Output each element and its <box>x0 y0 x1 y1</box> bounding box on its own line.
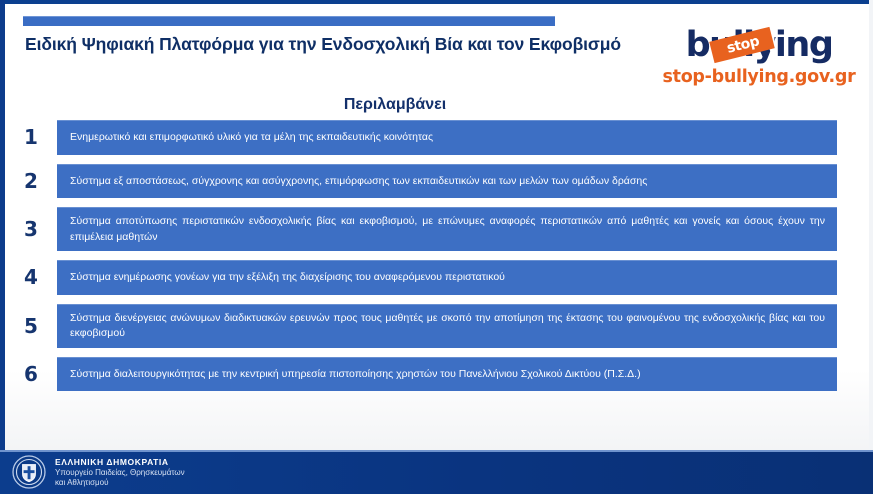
list-item: 4 Σύστημα ενημέρωσης γονέων για την εξέλ… <box>5 260 869 295</box>
list-item: 2 Σύστημα εξ αποστάσεως, σύγχρονης και α… <box>5 164 869 199</box>
list-item-number: 6 <box>5 364 57 384</box>
title-accent-bar <box>23 16 555 26</box>
list-item-number: 4 <box>5 267 57 287</box>
footer-top-divider <box>0 450 873 452</box>
presentation-slide: Ειδική Ψηφιακή Πλατφόρμα για την Ενδοσχο… <box>0 0 873 494</box>
footer-text-block: ΕΛΛΗΝΙΚΗ ΔΗΜΟΚΡΑΤΙΑ Υπουργείο Παιδείας, … <box>55 457 185 488</box>
page-title: Ειδική Ψηφιακή Πλατφόρμα για την Ενδοσχο… <box>25 34 665 55</box>
slide-right-border <box>869 0 873 450</box>
list-item: 1 Ενημερωτικό και επιμορφωτικό υλικό για… <box>5 120 869 155</box>
list-item: 3 Σύστημα αποτύπωσης περιστατικών ενδοσχ… <box>5 207 869 251</box>
footer-ministry-line-2: και Αθλητισμού <box>55 478 185 488</box>
logo-website-url: stop-bullying.gov.gr <box>653 67 865 87</box>
list-item-number: 2 <box>5 171 57 191</box>
list-item-text: Σύστημα διενέργειας ανώνυμων διαδικτυακώ… <box>57 304 837 348</box>
feature-list: 1 Ενημερωτικό και επιμορφωτικό υλικό για… <box>5 120 869 400</box>
footer-ministry-line-1: Υπουργείο Παιδείας, Θρησκευμάτων <box>55 468 185 478</box>
footer-organization: ΕΛΛΗΝΙΚΗ ΔΗΜΟΚΡΑΤΙΑ <box>55 457 185 468</box>
list-item-text: Ενημερωτικό και επιμορφωτικό υλικό για τ… <box>57 120 837 155</box>
greek-coat-of-arms-icon <box>12 455 46 489</box>
list-item-text: Σύστημα εξ αποστάσεως, σύγχρονης και ασύ… <box>57 164 837 199</box>
list-item-number: 5 <box>5 316 57 336</box>
list-item: 5 Σύστημα διενέργειας ανώνυμων διαδικτυα… <box>5 304 869 348</box>
list-item-text: Σύστημα διαλειτουργικότητας με την κεντρ… <box>57 357 837 392</box>
list-item-number: 1 <box>5 127 57 147</box>
section-heading: Περιλαμβάνει <box>255 96 535 114</box>
logo-mark: bullying stop <box>653 26 865 64</box>
list-item-number: 3 <box>5 219 57 239</box>
list-item-text: Σύστημα αποτύπωσης περιστατικών ενδοσχολ… <box>57 207 837 251</box>
list-item-text: Σύστημα ενημέρωσης γονέων για την εξέλιξ… <box>57 260 837 295</box>
slide-footer: ΕΛΛΗΝΙΚΗ ΔΗΜΟΚΡΑΤΙΑ Υπουργείο Παιδείας, … <box>0 450 873 494</box>
list-item: 6 Σύστημα διαλειτουργικότητας με την κεν… <box>5 357 869 392</box>
slide-canvas: Ειδική Ψηφιακή Πλατφόρμα για την Ενδοσχο… <box>5 4 869 450</box>
stop-bullying-logo: bullying stop stop-bullying.gov.gr <box>653 26 865 87</box>
